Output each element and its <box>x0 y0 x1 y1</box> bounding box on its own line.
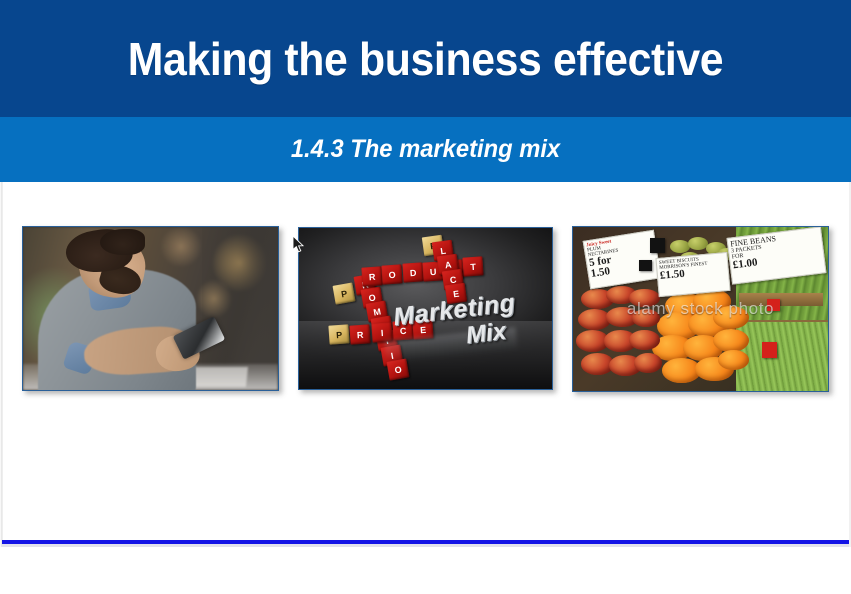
image-marketing-mix-crossword[interactable]: P R O M O T I O R O D U C T P <box>298 227 553 390</box>
mix-word: Mix <box>464 317 507 350</box>
orange-fruit <box>713 329 749 352</box>
cube-letter: O <box>382 264 404 285</box>
cube-letter: P <box>333 283 356 306</box>
cube-letter: T <box>463 256 485 277</box>
cube-letter: D <box>402 263 424 284</box>
cube-letter: R <box>362 266 384 287</box>
cube-letter: R <box>349 324 371 345</box>
footer: tutor2u <box>0 547 851 594</box>
image-market-stall[interactable]: Juicy Sweet PLUM NECTARINES 5 for 1.50 S… <box>572 226 829 392</box>
image-man-using-smartphone-content <box>23 227 278 390</box>
image-man-using-smartphone[interactable] <box>22 226 279 391</box>
mouse-cursor <box>293 236 305 254</box>
slide: Making the business effective 1.4.3 The … <box>0 0 851 594</box>
cube-letter: P <box>329 324 351 345</box>
window-edge-left <box>0 182 3 594</box>
red-tag <box>762 342 777 358</box>
green-beans-lower <box>736 320 828 391</box>
image-market-stall-content: Juicy Sweet PLUM NECTARINES 5 for 1.50 S… <box>573 227 828 391</box>
image-marketing-mix-content: P R O M O T I O R O D U C T P <box>299 228 552 389</box>
image-row: P R O M O T I O R O D U C T P <box>0 0 851 594</box>
nectarine-fruit <box>629 330 660 350</box>
black-tag <box>650 238 665 253</box>
stock-photo-watermark: alamy stock photo <box>573 299 828 319</box>
price-sign: SWEET BISCUITS MORRISON'S FINEST £1.50 <box>656 252 731 297</box>
person-hair-top <box>100 229 146 255</box>
orange-fruit <box>718 350 749 370</box>
nectarine-fruit <box>634 353 662 373</box>
black-tag <box>639 260 652 271</box>
